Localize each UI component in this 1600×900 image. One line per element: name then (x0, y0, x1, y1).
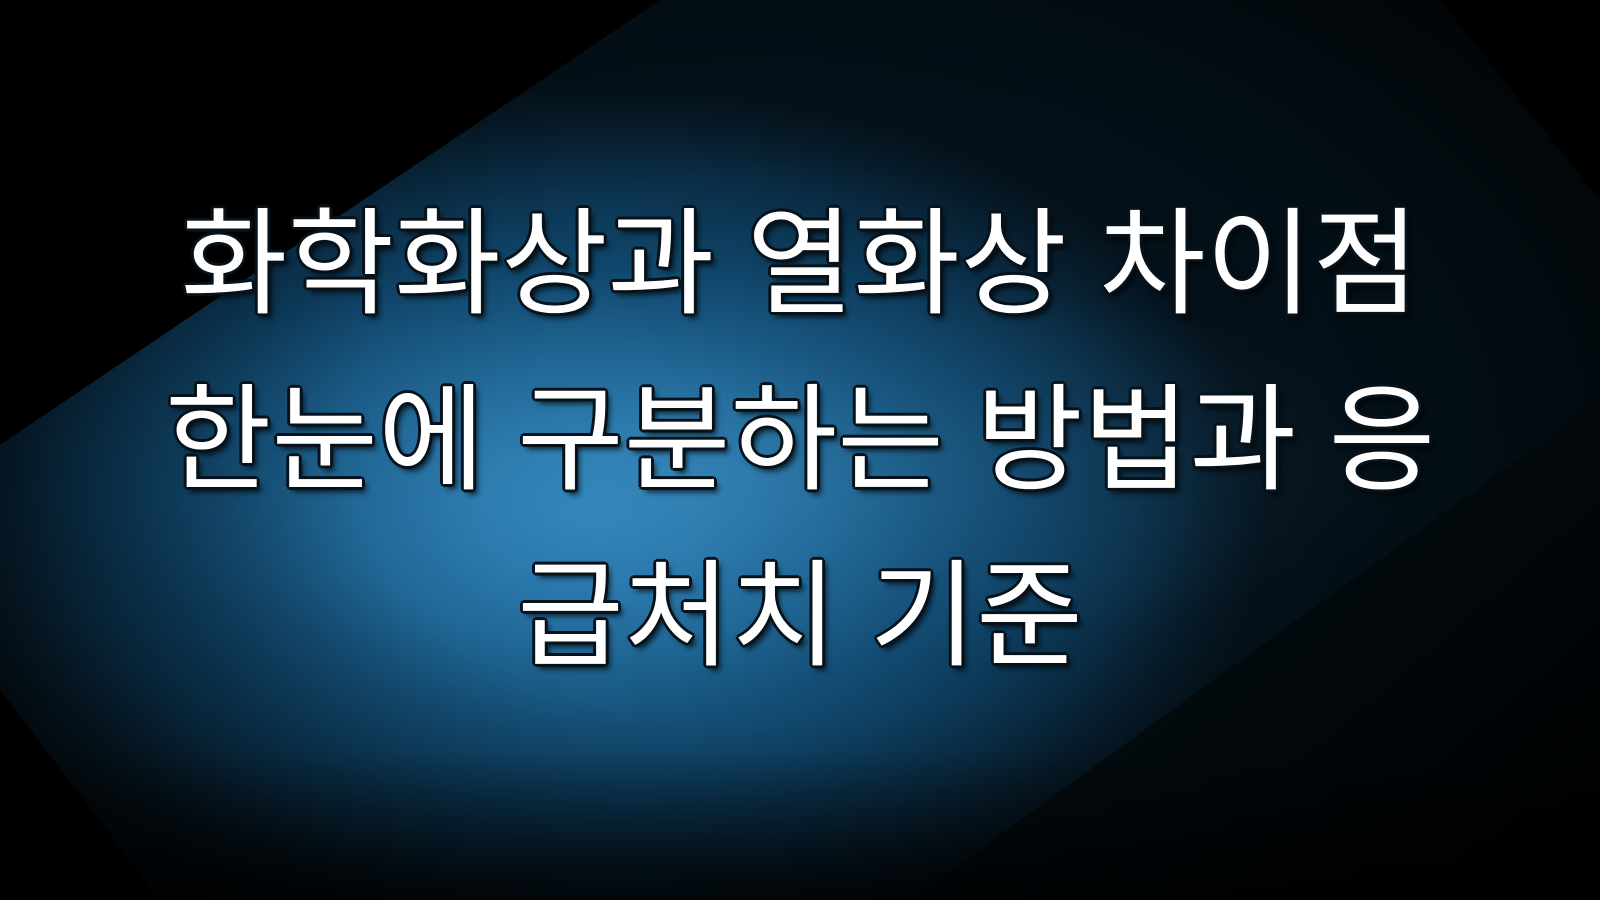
shard-bottom-band (0, 750, 1600, 900)
title-line-1: 화학화상과 열화상 차이점 (0, 176, 1600, 352)
title-block: 화학화상과 열화상 차이점 한눈에 구분하는 방법과 응 급처치 기준 (0, 176, 1600, 704)
slide-canvas: 화학화상과 열화상 차이점 한눈에 구분하는 방법과 응 급처치 기준 (0, 0, 1600, 900)
title-line-2: 한눈에 구분하는 방법과 응 (0, 352, 1600, 528)
title-line-3: 급처치 기준 (0, 528, 1600, 704)
